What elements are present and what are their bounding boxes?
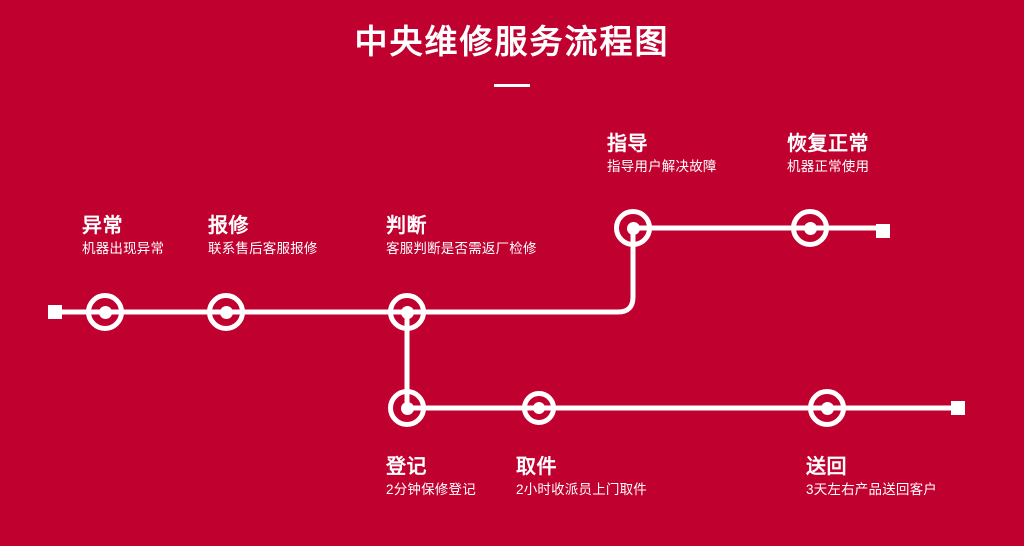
node-dot bbox=[821, 402, 834, 415]
label-title: 取件 bbox=[516, 455, 647, 480]
label-guide: 指导 指导用户解决故障 bbox=[607, 132, 717, 177]
label-title: 送回 bbox=[806, 455, 937, 480]
flowchart-canvas: 中央维修服务流程图 异常 机器出现异常 报修 联系售后客服报修 判断 客服判断是… bbox=[0, 0, 1024, 546]
label-pickup: 取件 2小时收派员上门取件 bbox=[516, 455, 647, 500]
label-judge: 判断 客服判断是否需返厂检修 bbox=[386, 214, 537, 259]
node-dot bbox=[533, 402, 545, 414]
label-desc: 客服判断是否需返厂检修 bbox=[386, 239, 537, 259]
node-dot bbox=[627, 222, 640, 235]
label-abnormal: 异常 机器出现异常 bbox=[82, 214, 164, 259]
node-dot bbox=[401, 402, 414, 415]
node-dot bbox=[220, 306, 233, 319]
label-desc: 2小时收派员上门取件 bbox=[516, 480, 647, 500]
label-desc: 2分钟保修登记 bbox=[386, 480, 476, 500]
node-dot bbox=[804, 222, 817, 235]
label-title: 异常 bbox=[82, 214, 164, 239]
label-report: 报修 联系售后客服报修 bbox=[208, 214, 318, 259]
node-return[interactable] bbox=[808, 389, 846, 427]
label-restored: 恢复正常 机器正常使用 bbox=[787, 132, 869, 177]
node-report[interactable] bbox=[207, 293, 245, 331]
node-pickup[interactable] bbox=[522, 391, 556, 425]
node-abnormal[interactable] bbox=[86, 293, 124, 331]
label-title: 恢复正常 bbox=[787, 132, 869, 157]
label-desc: 3天左右产品送回客户 bbox=[806, 480, 937, 500]
label-desc: 机器出现异常 bbox=[82, 239, 164, 259]
node-dot bbox=[99, 306, 112, 319]
label-register: 登记 2分钟保修登记 bbox=[386, 455, 476, 500]
label-desc: 指导用户解决故障 bbox=[607, 157, 717, 177]
node-register[interactable] bbox=[388, 389, 426, 427]
node-guide[interactable] bbox=[614, 209, 652, 247]
label-title: 登记 bbox=[386, 455, 476, 480]
label-title: 报修 bbox=[208, 214, 318, 239]
label-desc: 联系售后客服报修 bbox=[208, 239, 318, 259]
label-title: 指导 bbox=[607, 132, 717, 157]
start-cap bbox=[48, 305, 62, 319]
lower-end-cap bbox=[951, 401, 965, 415]
label-return: 送回 3天左右产品送回客户 bbox=[806, 455, 937, 500]
upper-end-cap bbox=[876, 224, 890, 238]
node-restored[interactable] bbox=[791, 209, 829, 247]
label-desc: 机器正常使用 bbox=[787, 157, 869, 177]
node-judge[interactable] bbox=[388, 293, 426, 331]
node-dot bbox=[401, 306, 414, 319]
label-title: 判断 bbox=[386, 214, 537, 239]
